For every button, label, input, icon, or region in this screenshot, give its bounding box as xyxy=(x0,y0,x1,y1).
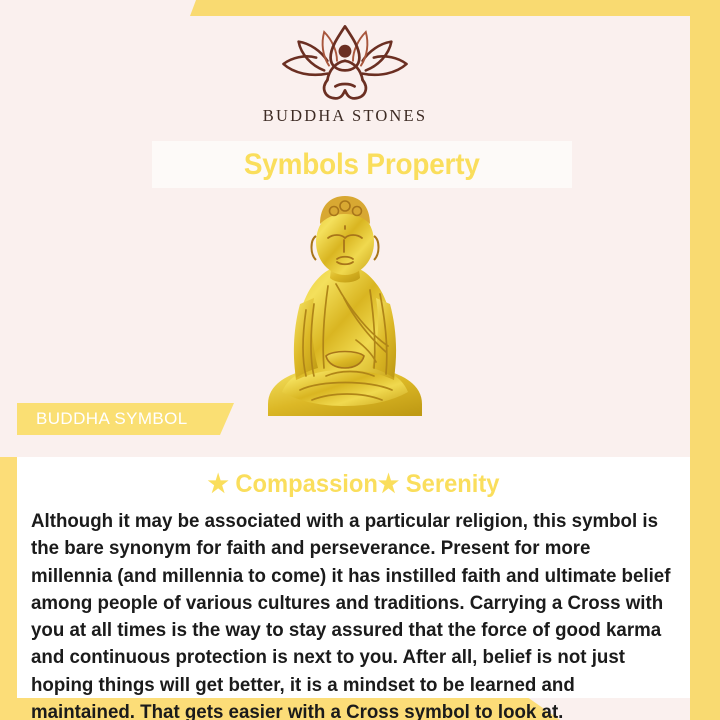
buddha-symbol-tag: BUDDHA SYMBOL xyxy=(17,403,234,435)
content-paragraph: Although it may be associated with a par… xyxy=(31,508,672,720)
decor-right-accent-band xyxy=(690,0,720,720)
infographic-page: BUDDHA STONES Symbols Property xyxy=(0,0,720,720)
title-banner: Symbols Property xyxy=(152,141,572,188)
page-title: Symbols Property xyxy=(244,148,480,182)
lotus-meditation-icon xyxy=(265,24,425,102)
hero-section: BUDDHA STONES Symbols Property xyxy=(0,16,690,457)
brand-logo: BUDDHA STONES xyxy=(0,24,690,126)
buddha-symbol-tag-label: BUDDHA SYMBOL xyxy=(36,409,188,429)
content-card: ★ Compassion★ Serenity Although it may b… xyxy=(17,457,690,698)
content-headline: ★ Compassion★ Serenity xyxy=(47,469,660,499)
decor-top-accent-band xyxy=(190,0,720,16)
golden-seated-buddha-illustration xyxy=(240,194,450,419)
brand-wordmark: BUDDHA STONES xyxy=(263,106,427,126)
